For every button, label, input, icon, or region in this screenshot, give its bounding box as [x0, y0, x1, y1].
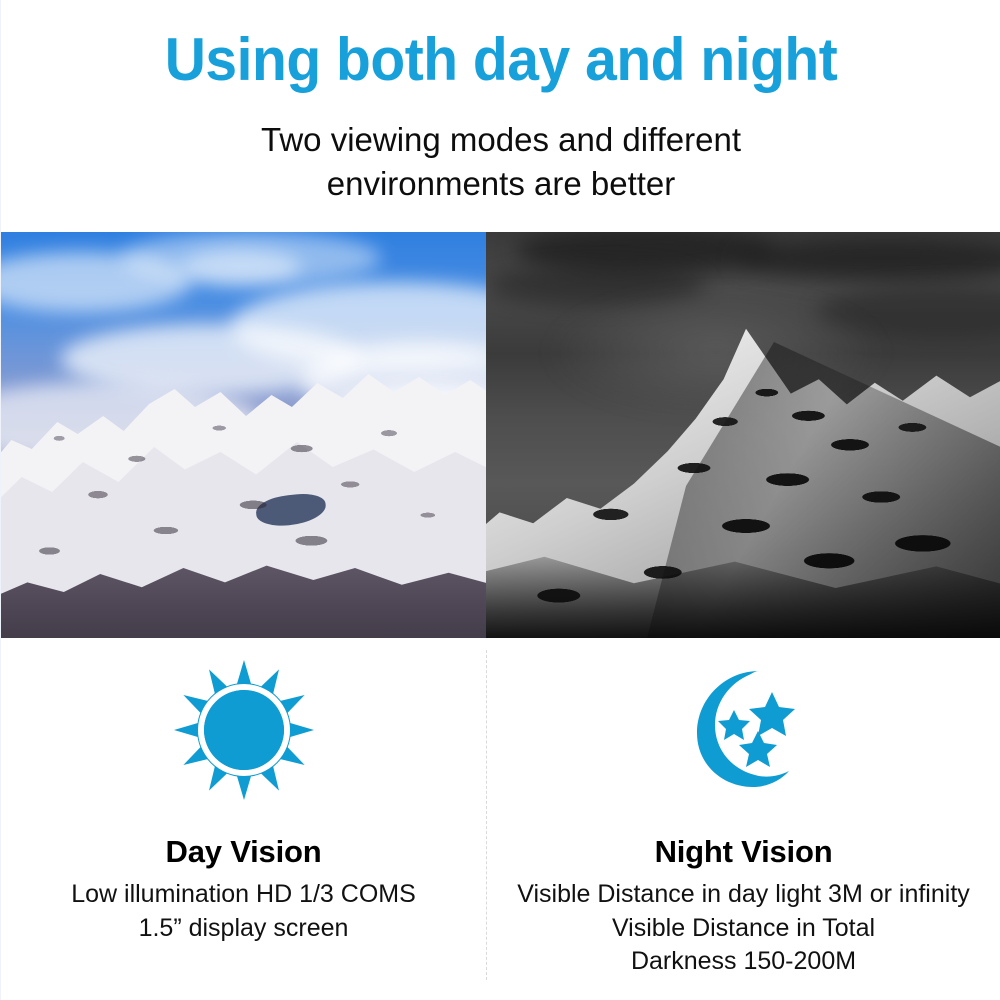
- feature-description: Visible Distance in day light 3M or infi…: [486, 878, 1000, 979]
- day-rock-speckle: [1, 382, 486, 638]
- page-subtitle: Two viewing modes and different environm…: [1, 118, 1000, 206]
- feature-desc-line: Low illumination HD 1/3 COMS: [1, 878, 486, 912]
- moon-stars-icon: [486, 660, 1000, 800]
- day-photo: [1, 232, 486, 638]
- subtitle-line-2: environments are better: [1, 162, 1000, 206]
- feature-title: Night Vision: [486, 834, 1000, 870]
- feature-night-vision: Night Vision Visible Distance in day lig…: [486, 638, 1000, 1000]
- sun-icon: [1, 660, 486, 800]
- feature-title: Day Vision: [1, 834, 486, 870]
- feature-day-vision: Day Vision Low illumination HD 1/3 COMS …: [1, 638, 486, 1000]
- feature-description: Low illumination HD 1/3 COMS 1.5” displa…: [1, 878, 486, 945]
- feature-desc-line: Visible Distance in Total: [486, 912, 1000, 946]
- infographic-page: Using both day and night Two viewing mod…: [0, 0, 1000, 1000]
- cloud: [181, 250, 301, 284]
- feature-desc-line: Visible Distance in day light 3M or infi…: [486, 878, 1000, 912]
- feature-desc-line: 1.5” display screen: [1, 912, 486, 946]
- features-section: Day Vision Low illumination HD 1/3 COMS …: [1, 638, 1000, 1000]
- header-section: Using both day and night Two viewing mod…: [1, 0, 1000, 232]
- subtitle-line-1: Two viewing modes and different: [1, 118, 1000, 162]
- feature-desc-line: Darkness 150-200M: [486, 945, 1000, 979]
- comparison-photo-band: [1, 232, 1000, 638]
- night-photo: [486, 232, 1000, 638]
- page-title: Using both day and night: [26, 28, 976, 91]
